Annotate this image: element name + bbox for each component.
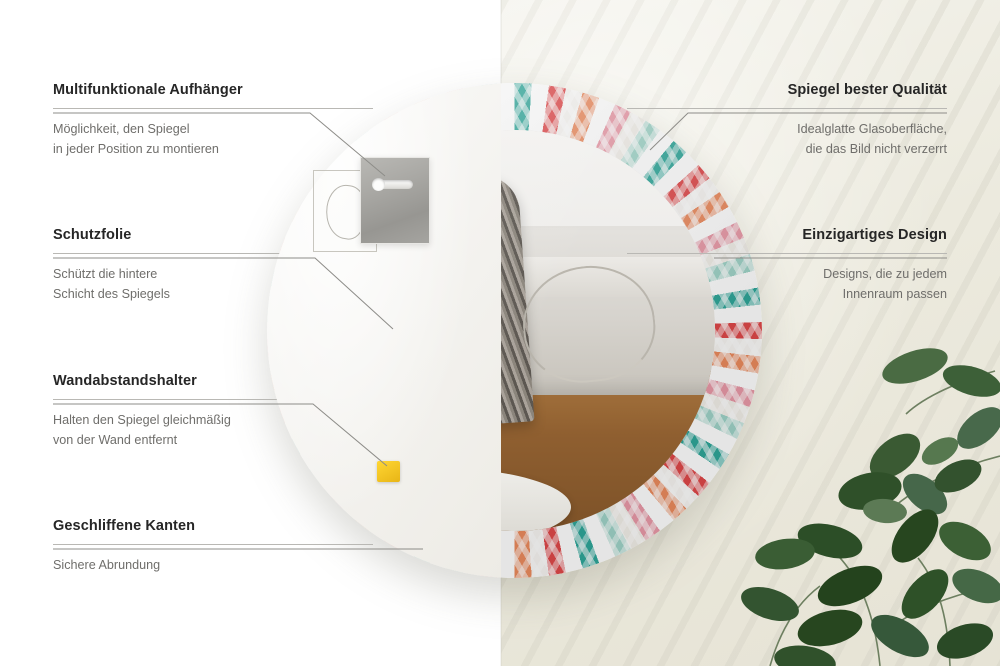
poster-stage: Multifunktionale Aufhänger Möglichkeit, …: [0, 0, 1000, 666]
wall-hanger-plate: [360, 157, 430, 244]
callout-title: Spiegel bester Qualität: [627, 82, 947, 99]
callout-rule: [627, 108, 947, 109]
plant-leaves: [737, 341, 1000, 666]
callout-rule: [627, 253, 947, 254]
callout-einzigartiges-design: Einzigartiges Design Designs, die zu jed…: [627, 227, 947, 304]
callout-spiegel-bester-qualitaet: Spiegel bester Qualität Idealglatte Glas…: [627, 82, 947, 159]
callout-body: Idealglatte Glasoberfläche, die das Bild…: [627, 120, 947, 158]
callout-title: Einzigartiges Design: [627, 227, 947, 244]
hanger-keyhole-slot: [375, 180, 413, 189]
plant-foliage: [710, 336, 1000, 666]
wall-spacer-block: [377, 461, 400, 482]
callout-body: Designs, die zu jedem Innenraum passen: [627, 265, 947, 303]
